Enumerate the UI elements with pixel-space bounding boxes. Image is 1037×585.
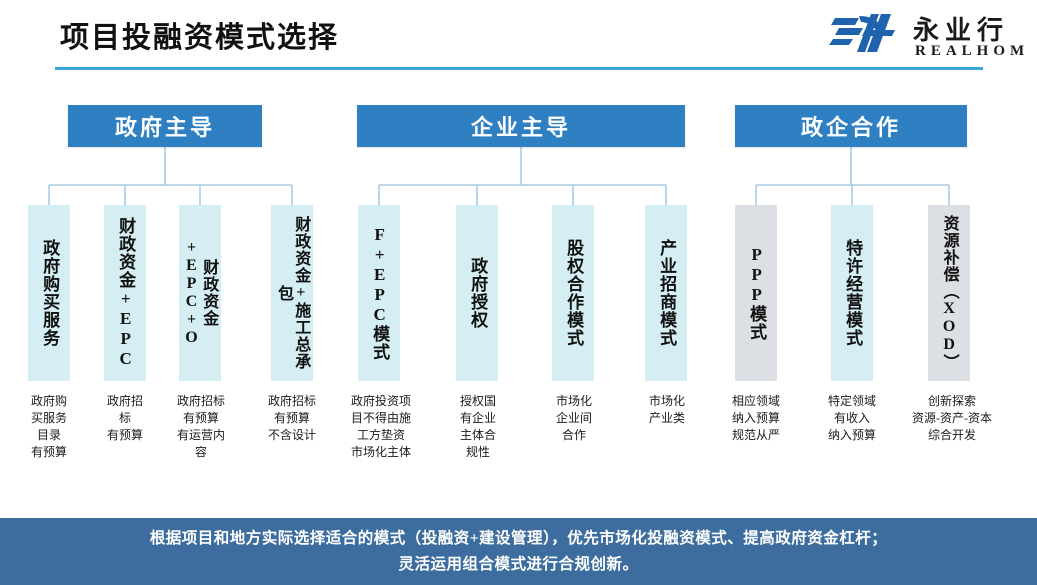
mode-box-ppp-cooperation-1[interactable]: 特许经营模式 <box>831 205 873 381</box>
mode-box-label: 政府授权 <box>468 257 486 329</box>
group-header-enterprise-led[interactable]: 企业主导 <box>357 105 685 147</box>
mode-box-label: 股权合作模式 <box>564 239 582 347</box>
mode-description-government-led-0: 政府购 买服务 目录 有预算 <box>8 393 90 461</box>
mode-description-enterprise-led-3: 市场化 产业类 <box>625 393 709 427</box>
slide-header: 项目投融资模式选择 永业行 REALHOM <box>0 0 1037 80</box>
mode-description-government-led-1: 政府招 标 有预算 <box>84 393 166 444</box>
mode-description-ppp-cooperation-1: 特定领域 有收入 纳入预算 <box>804 393 900 444</box>
logo-chinese-name: 永业行 <box>913 10 1009 47</box>
mode-box-label: 政府购买服务 <box>40 239 58 347</box>
mode-box-label: 资源补偿（XOD） <box>940 215 957 371</box>
mode-box-enterprise-led-1[interactable]: 政府授权 <box>456 205 498 381</box>
mode-selection-diagram: 政府主导政府购买服务政府购 买服务 目录 有预算财政资金+EPC政府招 标 有预… <box>0 80 1037 510</box>
mode-description-ppp-cooperation-2: 创新探索 资源-资产-资本 综合开发 <box>896 393 1008 444</box>
mode-box-ppp-cooperation-0[interactable]: PPP模式 <box>735 205 777 381</box>
mode-description-enterprise-led-0: 政府投资项 目不得由施 工方垫资 市场化主体 <box>331 393 431 461</box>
mode-box-enterprise-led-3[interactable]: 产业招商模式 <box>645 205 687 381</box>
mode-box-ppp-cooperation-2[interactable]: 资源补偿（XOD） <box>928 205 970 381</box>
mode-description-enterprise-led-2: 市场化 企业间 合作 <box>532 393 616 444</box>
mode-box-government-led-3[interactable]: 财政资金+施工总承包 <box>271 205 313 381</box>
mode-box-label: 产业招商模式 <box>657 239 675 347</box>
mode-box-label: 特许经营模式 <box>843 239 861 347</box>
footer-conclusion-banner: 根据项目和地方实际选择适合的模式（投融资+建设管理），优先市场化投融资模式、提高… <box>0 518 1037 585</box>
mode-box-government-led-1[interactable]: 财政资金+EPC <box>104 205 146 381</box>
mode-description-ppp-cooperation-0: 相应领域 纳入预算 规范从严 <box>708 393 804 444</box>
mode-box-label: PPP模式 <box>747 245 765 341</box>
mode-description-government-led-3: 政府招标 有预算 不含设计 <box>244 393 340 444</box>
mode-description-government-led-2: 政府招标 有预算 有运营内 容 <box>157 393 245 461</box>
mode-box-government-led-0[interactable]: 政府购买服务 <box>28 205 70 381</box>
footer-line-2: 灵活运用组合模式进行合规创新。 <box>398 552 638 578</box>
title-underline-rule <box>55 67 983 70</box>
mode-description-enterprise-led-1: 授权国 有企业 主体合 规性 <box>436 393 520 461</box>
group-header-label: 企业主导 <box>471 110 571 142</box>
group-header-government-led[interactable]: 政府主导 <box>68 105 262 147</box>
page-title: 项目投融资模式选择 <box>60 14 339 56</box>
group-header-ppp-cooperation[interactable]: 政企合作 <box>735 105 967 147</box>
yh-monogram-icon <box>829 12 905 54</box>
mode-box-enterprise-led-0[interactable]: F+EPC模式 <box>358 205 400 381</box>
mode-box-label: 财政资金+施工总承包 <box>275 211 310 375</box>
brand-logo: 永业行 REALHOM <box>825 8 1025 66</box>
mode-box-label: F+EPC模式 <box>370 225 388 361</box>
mode-box-government-led-2[interactable]: 财政资金+EPC+O <box>179 205 221 381</box>
mode-box-label: 财政资金+EPC+O <box>183 211 218 375</box>
group-header-label: 政府主导 <box>115 110 215 142</box>
logo-english-name: REALHOM <box>915 43 1029 60</box>
mode-box-enterprise-led-2[interactable]: 股权合作模式 <box>552 205 594 381</box>
group-header-label: 政企合作 <box>801 110 901 142</box>
mode-box-label: 财政资金+EPC <box>116 217 134 369</box>
footer-line-1: 根据项目和地方实际选择适合的模式（投融资+建设管理），优先市场化投融资模式、提高… <box>150 526 888 552</box>
